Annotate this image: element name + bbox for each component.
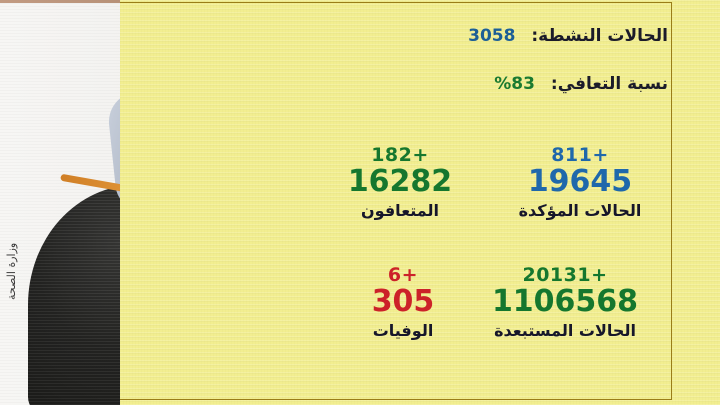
recovered-value: 16282 xyxy=(315,166,485,198)
recovered-delta: +182 xyxy=(315,146,485,166)
excluded-value: 1106568 xyxy=(465,286,665,318)
stat-confirmed-cases: +811 19645 الحالات المؤكدة xyxy=(495,146,665,220)
recovery-rate-label: نسبة التعافي: xyxy=(551,74,668,94)
covid-stats-poster: COVID 19 وزارة الصحة الحالات النشطة: 305… xyxy=(0,0,720,405)
deaths-delta: +6 xyxy=(338,266,468,286)
stat-deaths: +6 305 الوفيات xyxy=(338,266,468,340)
stat-recovered: +182 16282 المتعافون xyxy=(315,146,485,220)
excluded-label: الحالات المستبعدة xyxy=(465,322,665,340)
active-cases-label: الحالات النشطة: xyxy=(531,26,668,46)
recovery-rate-value: 83% xyxy=(494,74,535,94)
stat-excluded-cases: +20131 1106568 الحالات المستبعدة xyxy=(465,266,665,340)
ministry-of-health-label: وزارة الصحة xyxy=(5,243,18,300)
confirmed-value: 19645 xyxy=(495,166,665,198)
stats-card: الحالات النشطة: 3058 نسبة التعافي: 83% +… xyxy=(120,0,720,405)
excluded-delta: +20131 xyxy=(465,266,665,286)
active-cases-value: 3058 xyxy=(468,26,515,46)
confirmed-label: الحالات المؤكدة xyxy=(495,202,665,220)
confirmed-delta: +811 xyxy=(495,146,665,166)
recovery-rate-row: نسبة التعافي: 83% xyxy=(494,74,668,94)
deaths-value: 305 xyxy=(338,286,468,318)
deaths-label: الوفيات xyxy=(338,322,468,340)
active-cases-row: الحالات النشطة: 3058 xyxy=(468,26,668,46)
recovered-label: المتعافون xyxy=(315,202,485,220)
